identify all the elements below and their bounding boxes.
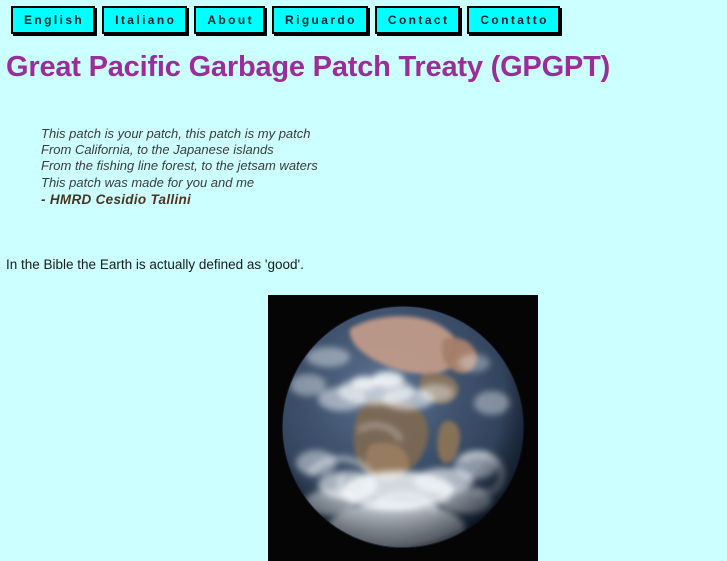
nav-button-italiano[interactable]: Italiano bbox=[102, 6, 187, 34]
nav-button-contatto[interactable]: Contatto bbox=[467, 6, 560, 34]
poem-block: This patch is your patch, this patch is … bbox=[41, 126, 318, 208]
poem-byline: - HMRD Cesidio Tallini bbox=[41, 191, 318, 208]
nav-button-english[interactable]: English bbox=[11, 6, 95, 34]
earth-image-container bbox=[268, 295, 538, 561]
poem-line-2: From California, to the Japanese islands bbox=[41, 142, 318, 158]
nav-button-contact[interactable]: Contact bbox=[375, 6, 460, 34]
page-title: Great Pacific Garbage Patch Treaty (GPGP… bbox=[6, 51, 610, 84]
poem-line-4: This patch was made for you and me bbox=[41, 175, 318, 191]
nav-button-riguardo[interactable]: Riguardo bbox=[272, 6, 368, 34]
poem-line-1: This patch is your patch, this patch is … bbox=[41, 126, 318, 142]
earth-blue-marble-photo bbox=[268, 295, 538, 561]
language-nav-bar: English Italiano About Riguardo Contact … bbox=[11, 6, 560, 34]
body-paragraph: In the Bible the Earth is actually defin… bbox=[6, 257, 304, 272]
poem-line-3: From the fishing line forest, to the jet… bbox=[41, 158, 318, 174]
nav-button-about[interactable]: About bbox=[194, 6, 265, 34]
